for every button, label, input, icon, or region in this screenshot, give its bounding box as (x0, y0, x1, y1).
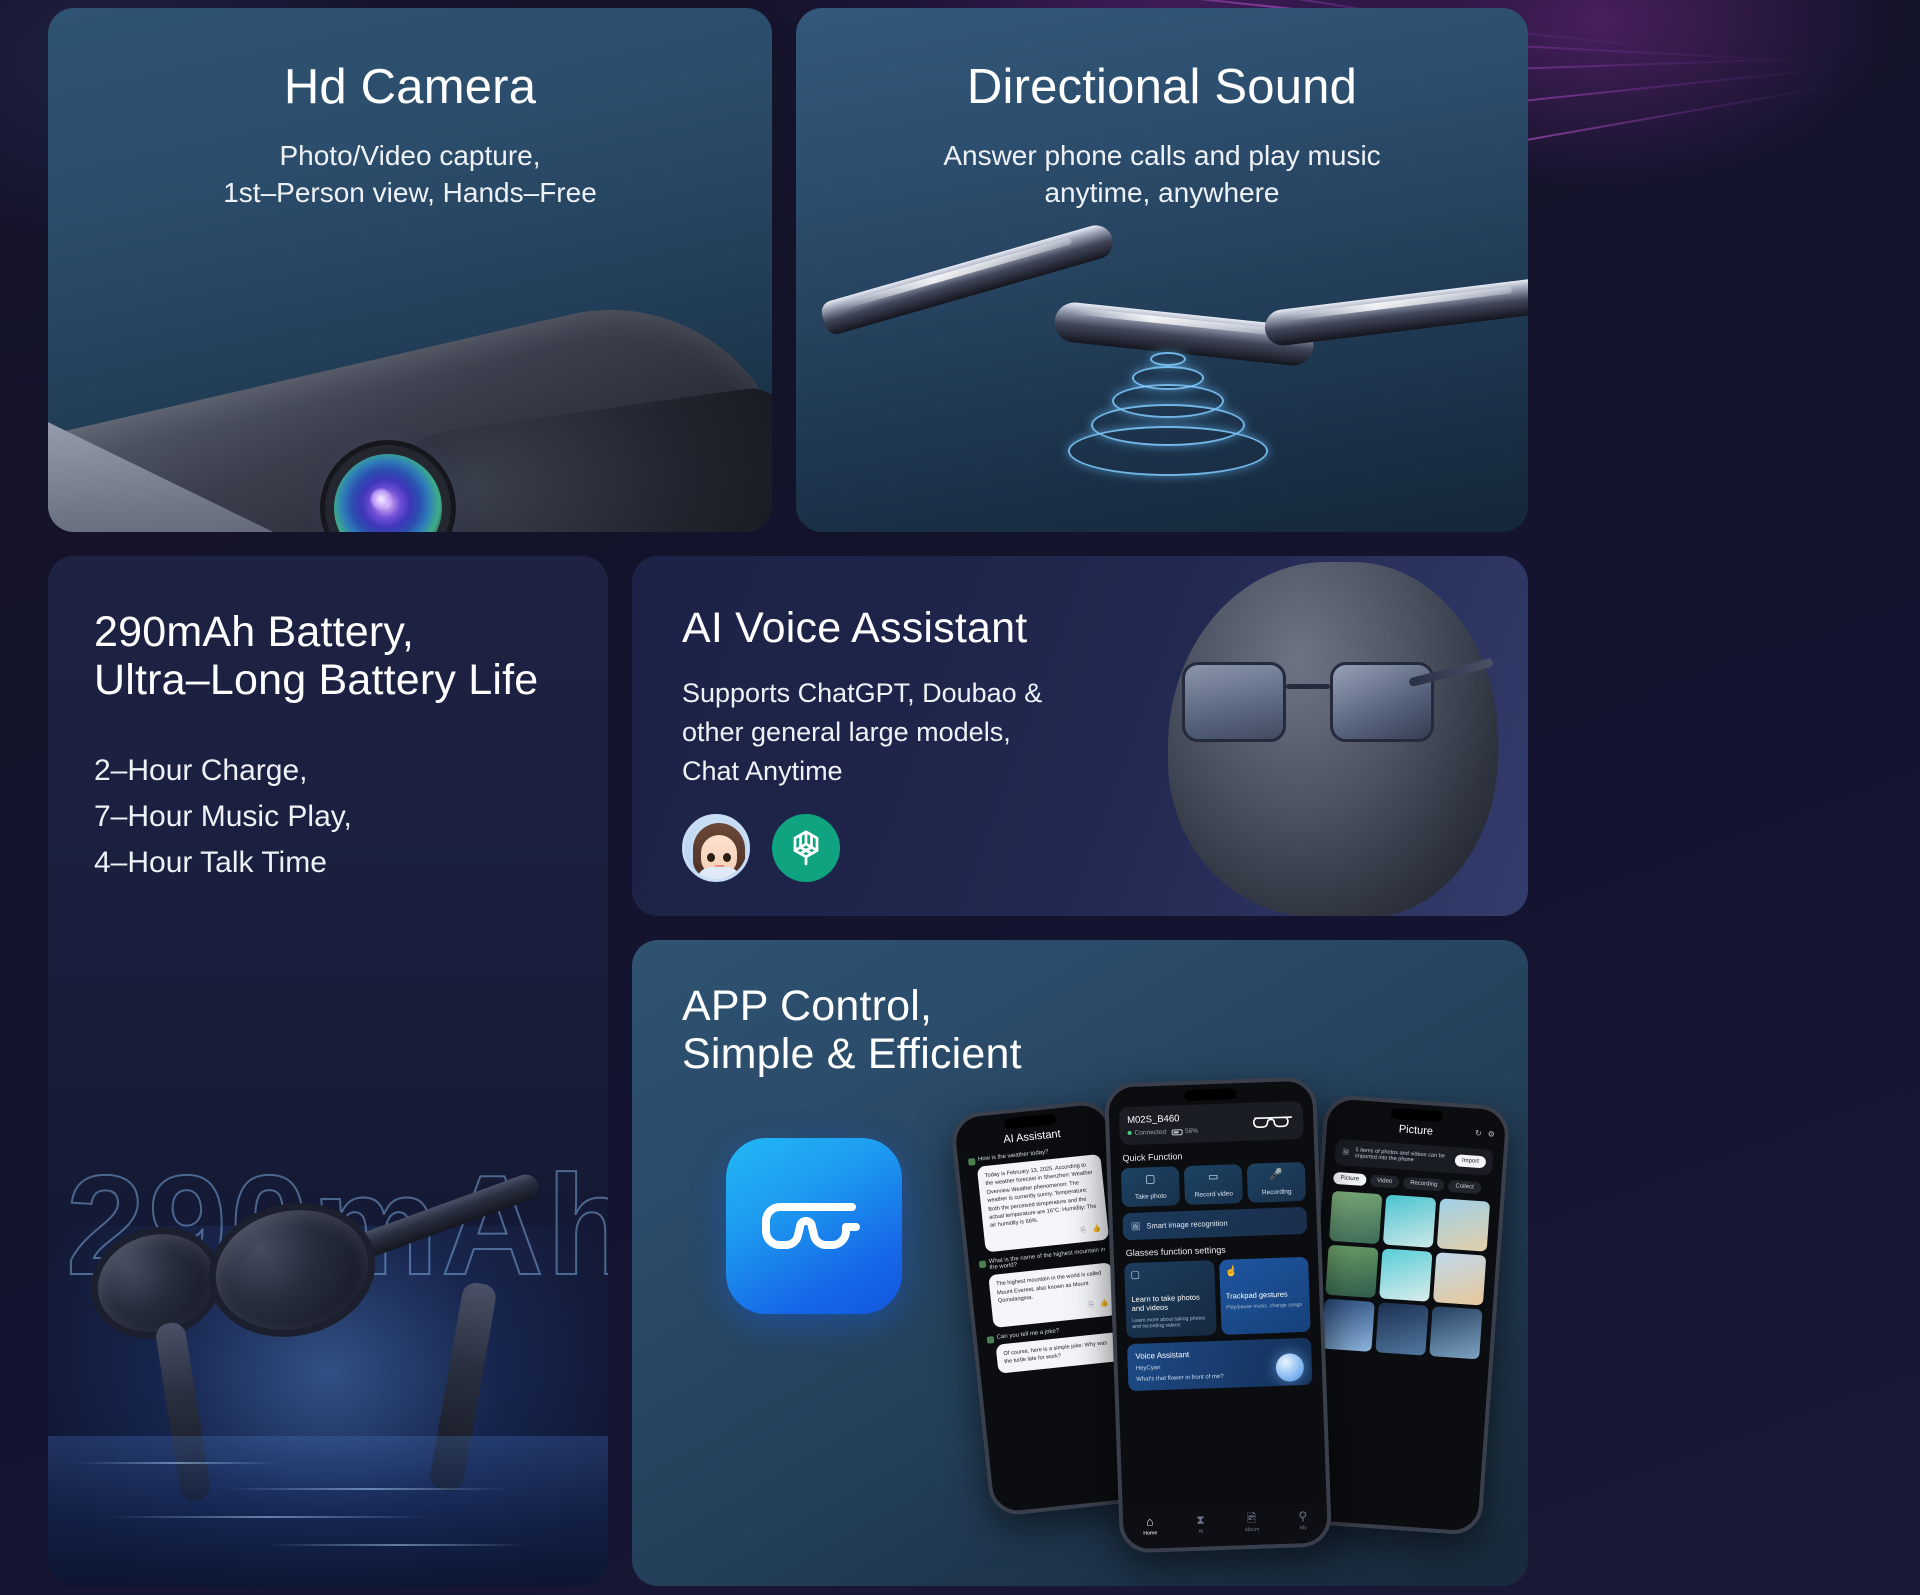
copy-icon[interactable]: ⎘ (1088, 1301, 1095, 1312)
worn-glasses-illustration (1182, 662, 1432, 748)
phone-notch (1184, 1088, 1236, 1101)
chat-answer-text: Today is February 13, 2025. According to… (985, 1162, 1097, 1229)
picture-screen: Picture ↻ ⚙ 🖼 5 items of photos and vide… (1299, 1098, 1506, 1531)
glasses-settings-label: Glasses function settings (1126, 1242, 1308, 1258)
voice-assistant-card[interactable]: Voice Assistant HeyCyan What's that flow… (1127, 1338, 1313, 1391)
quick-tile-label: Record video (1195, 1190, 1234, 1198)
device-status-card[interactable]: M02S_B460 Connected 56% (1119, 1101, 1304, 1145)
sound-text-block: Directional Sound Answer phone calls and… (796, 8, 1528, 212)
battery-title-line-1: 290mAh Battery, (94, 608, 562, 656)
ai-mannequin-illustration (1108, 556, 1528, 916)
ai-subtitle: Supports ChatGPT, Doubao & other general… (682, 674, 1102, 791)
voice-orb-icon (1275, 1353, 1304, 1382)
card-app-control: APP Control, Simple & Efficient AI Assis… (632, 940, 1528, 1586)
ai-text-block: AI Voice Assistant Supports ChatGPT, Dou… (632, 556, 1102, 882)
tab-label: AI (1198, 1528, 1203, 1534)
card-directional-sound: Directional Sound Answer phone calls and… (796, 8, 1528, 532)
chat-answer-text: Of course, here is a simple joke: Why wa… (1003, 1340, 1107, 1365)
feature-card-title: Trackpad gestures (1226, 1289, 1304, 1301)
filter-chip-collect[interactable]: Collect (1448, 1180, 1481, 1194)
battery-product-illustration: 290mAh (48, 1086, 608, 1586)
card-ai-voice-assistant: AI Voice Assistant Supports ChatGPT, Dou… (632, 556, 1528, 916)
feature-card-row: ▢ Learn to take photos and videos Learn … (1124, 1257, 1310, 1338)
tab-label: Album (1245, 1526, 1260, 1533)
photo-thumbnail[interactable] (1379, 1248, 1432, 1301)
filter-chip-recording[interactable]: Recording (1403, 1177, 1445, 1192)
home-icon: ⌂ (1143, 1515, 1157, 1527)
sound-title: Directional Sound (796, 60, 1528, 115)
app-title-line-1: APP Control, (682, 982, 1528, 1030)
image-scan-icon: 🖼 (1131, 1222, 1141, 1231)
photo-thumbnail[interactable] (1329, 1191, 1382, 1244)
ai-subtitle-line-1: Supports ChatGPT, Doubao & (682, 674, 1102, 713)
feature-card-trackpad[interactable]: ☝ Trackpad gestures Play/pause music, ch… (1219, 1257, 1311, 1335)
camera-title: Hd Camera (48, 60, 772, 115)
ai-icon: ⧗ (1196, 1513, 1205, 1525)
settings-icon[interactable]: ⚙ (1487, 1129, 1495, 1138)
tab-album[interactable]: 🖻Album (1244, 1511, 1259, 1533)
card-hd-camera: Hd Camera Photo/Video capture, 1st–Perso… (48, 8, 772, 532)
chat-message: How is the weather today? Today is Febru… (968, 1144, 1109, 1254)
chat-answer-bubble: The highest mountain in the world is cal… (988, 1263, 1117, 1328)
picture-header-icons: ↻ ⚙ (1475, 1129, 1495, 1139)
card-battery: 290mAh Battery, Ultra–Long Battery Life … (48, 556, 608, 1586)
doubao-avatar-icon (682, 814, 750, 882)
battery-bullet-3: 4–Hour Talk Time (94, 840, 562, 886)
sound-subtitle-line-2: anytime, anywhere (796, 174, 1528, 212)
infographic-page: Hd Camera Photo/Video capture, 1st–Perso… (0, 0, 1920, 1595)
bottom-tab-bar: ⌂Home ⧗AI 🖻Album ⚲My (1123, 1502, 1328, 1549)
phone-mockups: AI Assistant How is the weather today? T… (962, 1026, 1522, 1586)
photo-thumbnail[interactable] (1375, 1302, 1428, 1355)
quick-tile-take-photo[interactable]: ▢ Take photo (1121, 1166, 1180, 1207)
battery-bullet-list: 2–Hour Charge, 7–Hour Music Play, 4–Hour… (94, 748, 562, 885)
connection-status: Connected (1127, 1129, 1166, 1137)
photo-thumbnail[interactable] (1325, 1245, 1378, 1298)
battery-bullet-1: 2–Hour Charge, (94, 748, 562, 794)
feature-card-learn-photos[interactable]: ▢ Learn to take photos and videos Learn … (1124, 1260, 1216, 1338)
chat-answer-text: The highest mountain in the world is cal… (996, 1271, 1102, 1305)
tab-home[interactable]: ⌂Home (1143, 1515, 1158, 1536)
thumbs-up-icon[interactable]: 👍 (1100, 1299, 1110, 1310)
device-home-screen: M02S_B460 Connected 56% Quick Function (1108, 1081, 1328, 1550)
feature-card-subtitle: Learn more about taking photos and recor… (1132, 1315, 1210, 1331)
import-hint-text: 5 items of photos and videos can be impo… (1355, 1147, 1449, 1166)
photo-thumbnail[interactable] (1321, 1299, 1374, 1352)
camera-subtitle-line-1: Photo/Video capture, (48, 137, 772, 175)
tab-ai[interactable]: ⧗AI (1196, 1513, 1205, 1534)
feature-card-title: Learn to take photos and videos (1131, 1292, 1209, 1313)
photo-thumbnail[interactable] (1433, 1252, 1486, 1305)
camera-icon: ▢ (1125, 1173, 1175, 1186)
glasses-outline-icon (1251, 1110, 1296, 1132)
sound-subtitle: Answer phone calls and play music anytim… (796, 137, 1528, 212)
photo-thumbnail[interactable] (1437, 1198, 1490, 1251)
import-hint-banner: 🖼 5 items of photos and videos can be im… (1334, 1139, 1493, 1176)
quick-function-label: Quick Function (1122, 1147, 1304, 1163)
copy-icon[interactable]: ⎘ (1080, 1226, 1087, 1237)
quick-tile-recording[interactable]: 🎤 Recording (1247, 1162, 1306, 1203)
battery-bullet-2: 7–Hour Music Play, (94, 794, 562, 840)
sound-subtitle-line-1: Answer phone calls and play music (796, 137, 1528, 175)
album-icon: 🖻 (1244, 1511, 1259, 1524)
ai-title: AI Voice Assistant (682, 604, 1102, 652)
quick-tile-record-video[interactable]: ▭ Record video (1184, 1164, 1243, 1205)
ai-subtitle-line-2: other general large models, (682, 713, 1102, 752)
image-icon: 🖼 (1342, 1149, 1350, 1155)
device-name: M02S_B460 (1127, 1113, 1198, 1126)
camera-icon: ▢ (1130, 1270, 1140, 1281)
smart-image-recognition-tile[interactable]: 🖼 Smart image recognition (1122, 1207, 1307, 1240)
filter-chip-picture[interactable]: Picture (1333, 1172, 1366, 1186)
chatgpt-logo-icon (772, 814, 840, 882)
battery-title: 290mAh Battery, Ultra–Long Battery Life (94, 608, 562, 704)
photo-thumbnail-grid (1321, 1191, 1490, 1360)
microphone-icon: 🎤 (1251, 1169, 1301, 1182)
tab-my[interactable]: ⚲My (1298, 1510, 1308, 1531)
chat-message: Can you tell me a joke? Of course, here … (987, 1322, 1122, 1374)
quick-function-grid: ▢ Take photo ▭ Record video 🎤 Recording (1121, 1162, 1306, 1207)
filter-chip-video[interactable]: Video (1370, 1174, 1400, 1188)
tab-label: Home (1143, 1530, 1157, 1536)
ai-provider-logos (682, 814, 1102, 882)
battery-title-line-2: Ultra–Long Battery Life (94, 656, 562, 704)
refresh-icon[interactable]: ↻ (1475, 1129, 1482, 1138)
thumbs-up-icon[interactable]: 👍 (1092, 1224, 1102, 1235)
sound-wave-rings-icon (1028, 352, 1308, 472)
photo-thumbnail[interactable] (1383, 1195, 1436, 1248)
ai-subtitle-line-3: Chat Anytime (682, 752, 1102, 791)
tab-label: My (1300, 1525, 1307, 1531)
photo-thumbnail[interactable] (1429, 1306, 1482, 1359)
import-button[interactable]: Import (1454, 1154, 1486, 1168)
video-icon: ▭ (1188, 1171, 1238, 1184)
picture-screen-title: Picture (1337, 1119, 1495, 1142)
person-icon: ⚲ (1298, 1510, 1307, 1522)
device-meta: Connected 56% (1127, 1128, 1198, 1137)
feature-card-subtitle: Play/pause music, change songs (1226, 1302, 1304, 1311)
chat-message: What is the name of the highest mountain… (979, 1247, 1117, 1329)
chat-answer-bubble: Today is February 13, 2025. According to… (977, 1154, 1109, 1253)
battery-status: 56% (1172, 1128, 1198, 1136)
phone-device-home: M02S_B460 Connected 56% Quick Function (1104, 1076, 1332, 1553)
quick-tile-label: Recording (1262, 1188, 1292, 1196)
filter-chip-row: Picture Video Recording Collect (1333, 1172, 1491, 1195)
smart-image-recognition-label: Smart image recognition (1146, 1219, 1228, 1231)
glasses-app-icon[interactable] (726, 1138, 902, 1314)
quick-tile-label: Take photo (1135, 1193, 1167, 1201)
touch-icon: ☝ (1225, 1266, 1238, 1277)
battery-text-block: 290mAh Battery, Ultra–Long Battery Life … (48, 556, 608, 885)
camera-product-illustration (48, 182, 772, 532)
